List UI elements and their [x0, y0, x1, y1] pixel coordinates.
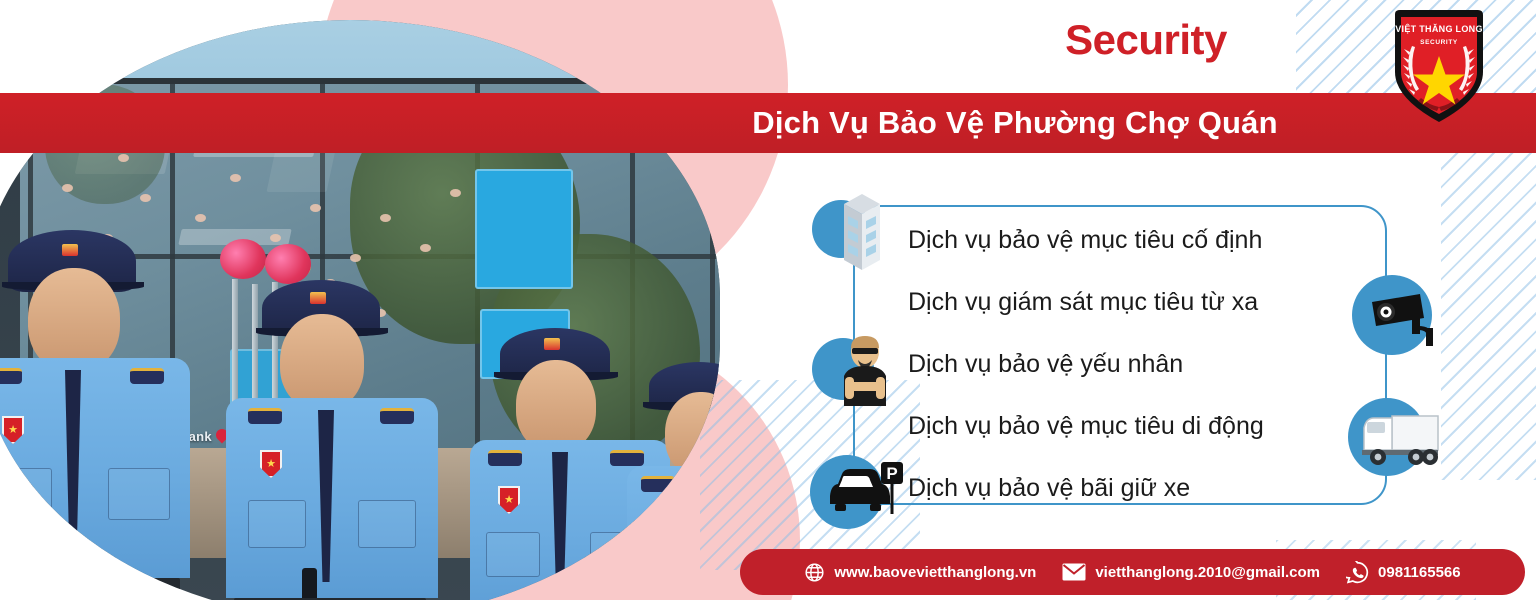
- email-contact[interactable]: vietthanglong.2010@gmail.com: [1062, 563, 1320, 581]
- svg-text:SECURITY: SECURITY: [1420, 39, 1458, 46]
- services-list: Dịch vụ bảo vệ mục tiêu cố định Dịch vụ …: [853, 205, 1413, 505]
- phone-text: 0981165566: [1378, 564, 1461, 581]
- security-service-banner: VietinBank VietinBank VietinBank: [0, 0, 1536, 600]
- svg-text:VIỆT THĂNG LONG: VIỆT THĂNG LONG: [1395, 23, 1483, 34]
- service-label: Dịch vụ bảo vệ mục tiêu cố định: [908, 226, 1262, 255]
- viet-thang-long-shield-logo[interactable]: VIỆT THĂNG LONG SECURITY: [1385, 6, 1493, 128]
- service-item[interactable]: Dịch vụ bảo vệ mục tiêu cố định: [908, 223, 1468, 257]
- guard-figure: [0, 230, 190, 600]
- envelope-icon: [1062, 563, 1086, 581]
- contact-bar: www.baovevietthanglong.vn vietthanglong.…: [740, 549, 1525, 595]
- page-title: Dịch Vụ Bảo Vệ Phường Chợ Quán: [620, 93, 1410, 153]
- website-text: www.baovevietthanglong.vn: [834, 564, 1036, 581]
- email-text: vietthanglong.2010@gmail.com: [1095, 564, 1320, 581]
- service-item[interactable]: Dịch vụ giám sát mục tiêu từ xa: [908, 285, 1468, 319]
- service-label: Dịch vụ bảo vệ yếu nhân: [908, 350, 1183, 379]
- service-label: Dịch vụ giám sát mục tiêu từ xa: [908, 288, 1258, 317]
- guard-figure: [240, 250, 440, 600]
- service-item[interactable]: Dịch vụ bảo vệ bãi giữ xe: [908, 471, 1468, 505]
- service-label: Dịch vụ bảo vệ bãi giữ xe: [908, 474, 1190, 503]
- guard-figure: [635, 290, 720, 600]
- globe-icon: [804, 562, 825, 583]
- heading-security: Security: [1036, 16, 1256, 64]
- service-item[interactable]: Dịch vụ bảo vệ yếu nhân: [908, 347, 1468, 381]
- service-label: Dịch vụ bảo vệ mục tiêu di động: [908, 412, 1264, 441]
- phone-contact[interactable]: 0981165566: [1346, 561, 1461, 584]
- whatsapp-phone-icon: [1346, 561, 1369, 584]
- service-item[interactable]: Dịch vụ bảo vệ mục tiêu di động: [908, 409, 1468, 443]
- website-contact[interactable]: www.baovevietthanglong.vn: [804, 562, 1036, 583]
